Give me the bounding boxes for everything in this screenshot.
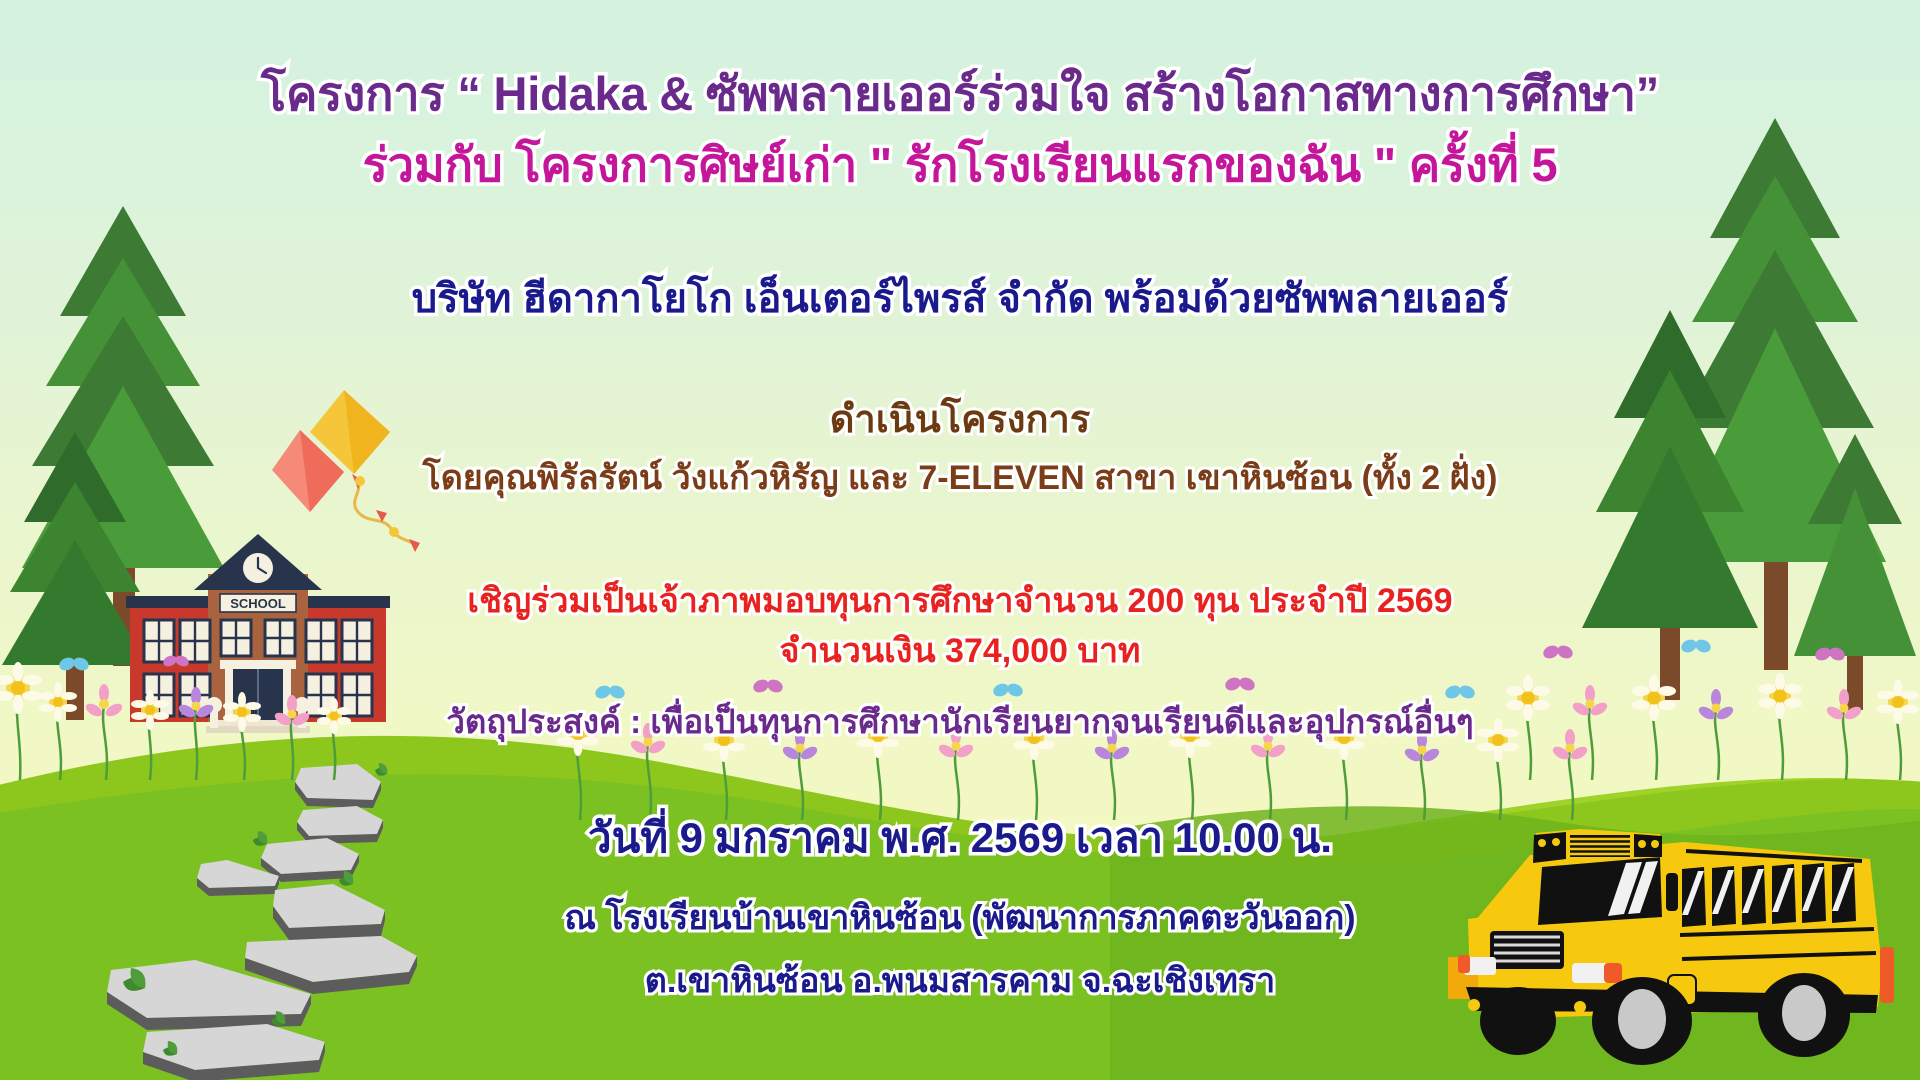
event-venue-line-1: ณ โรงเรียนบ้านเขาหินซ้อน (พัฒนาการภาคตะว… xyxy=(0,890,1920,944)
operation-body: โดยคุณพิรัลรัตน์ วังแก้วหิรัญ และ 7-ELEV… xyxy=(0,450,1920,504)
poster-title-line-2: ร่วมกับ โครงการศิษย์เก่า " รักโรงเรียนแร… xyxy=(0,127,1920,202)
objective-line: วัตถุประสงค์ : เพื่อเป็นทุนการศึกษานักเร… xyxy=(0,695,1920,748)
event-venue-line-2: ต.เขาหินซ้อน อ.พนมสารคาม จ.ฉะเชิงเทรา xyxy=(0,953,1920,1007)
operation-heading: ดำเนินโครงการ xyxy=(0,388,1920,449)
organizer-line: บริษัท ฮีดากาโยโก เอ็นเตอร์ไพรส์ จำกัด พ… xyxy=(0,266,1920,330)
poster-text-content: โครงการ “ Hidaka & ซัพพลายเออร์ร่วมใจ สร… xyxy=(0,0,1920,1080)
invitation-line-1: เชิญร่วมเป็นเจ้าภาพมอบทุนการศึกษาจำนวน 2… xyxy=(0,573,1920,627)
poster-canvas: SCHOOL xyxy=(0,0,1920,1080)
event-date-time: วันที่ 9 มกราคม พ.ศ. 2569 เวลา 10.00 น. xyxy=(0,805,1920,871)
poster-title-line-1: โครงการ “ Hidaka & ซัพพลายเออร์ร่วมใจ สร… xyxy=(0,56,1920,131)
invitation-line-2: จำนวนเงิน 374,000 บาท xyxy=(0,623,1920,677)
